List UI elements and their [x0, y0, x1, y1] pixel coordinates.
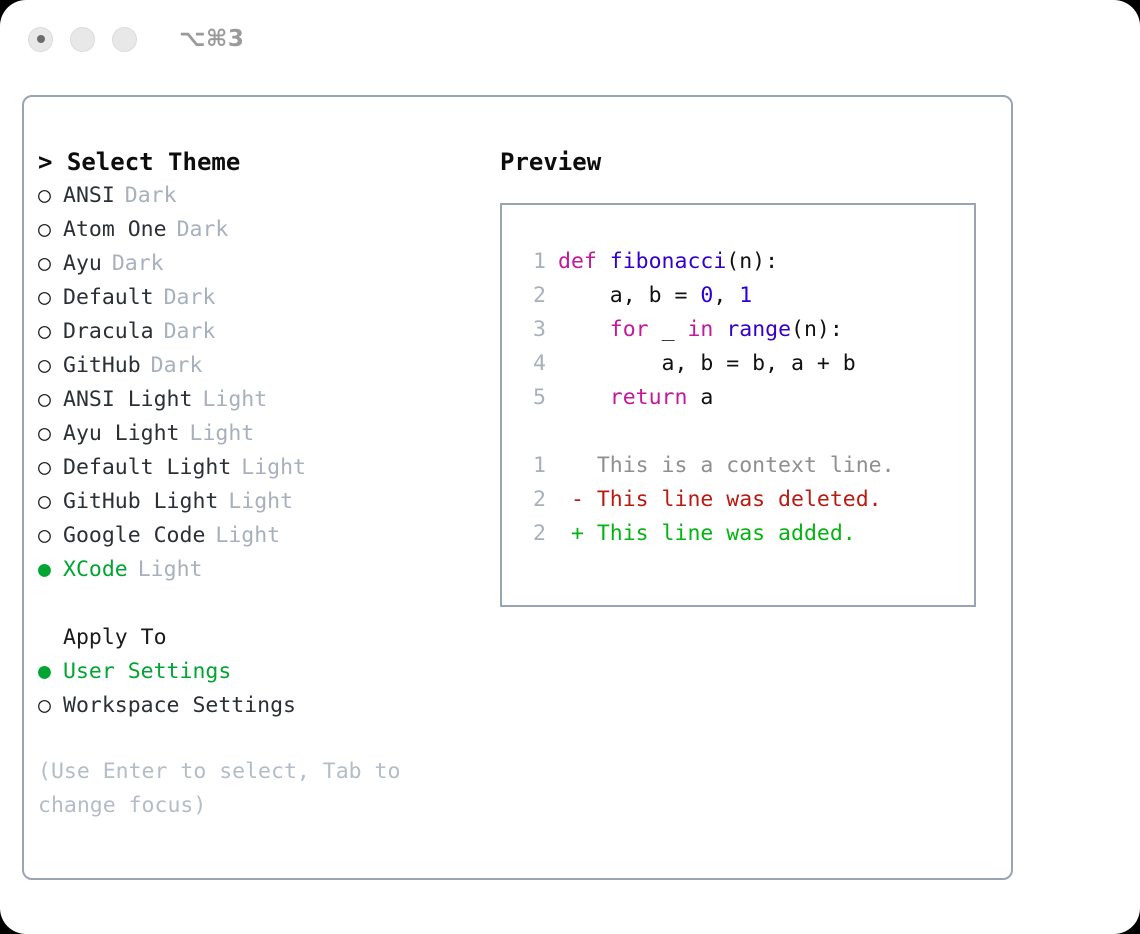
code-token-fn: range: [726, 317, 791, 342]
line-number: 2: [518, 279, 546, 313]
code-token-plain: a, b =: [558, 283, 700, 308]
code-token-kw: in: [687, 317, 713, 342]
theme-variant-label: Dark: [164, 315, 216, 349]
preview-column: Preview 1def fibonacci(n):2 a, b = 0, 13…: [500, 145, 1000, 607]
line-number: 1: [518, 245, 546, 279]
code-line-content: a, b = 0, 1: [558, 279, 752, 313]
theme-name-label: ANSI Light: [63, 383, 192, 417]
theme-name-label: Ayu: [63, 247, 102, 281]
code-line: 1 This is a context line.: [518, 449, 895, 483]
code-token-add: + This line was added.: [558, 521, 856, 546]
code-token-plain: [713, 317, 726, 342]
theme-list-item[interactable]: ○Default LightLight: [38, 451, 498, 485]
radio-unselected-icon[interactable]: ○: [38, 383, 63, 417]
theme-name-label: ANSI: [63, 179, 115, 213]
window-control-dot-3[interactable]: [112, 27, 137, 52]
line-number: 5: [518, 381, 546, 415]
preview-heading: Preview: [500, 145, 1000, 179]
theme-variant-label: Dark: [125, 179, 177, 213]
code-token-num: 1: [739, 283, 752, 308]
keyboard-shortcut-label: ⌥⌘3: [179, 26, 244, 52]
theme-name-label: Default: [63, 281, 154, 315]
theme-list-item[interactable]: ○AyuDark: [38, 247, 498, 281]
theme-list-item[interactable]: ○DefaultDark: [38, 281, 498, 315]
section-spacer: [38, 587, 498, 621]
code-line-content: return a: [558, 381, 713, 415]
radio-unselected-icon[interactable]: ○: [38, 281, 63, 315]
code-token-del: - This line was deleted.: [558, 487, 882, 512]
code-line: [518, 415, 895, 449]
radio-selected-icon[interactable]: ●: [38, 655, 63, 689]
theme-list: ○ANSIDark○Atom OneDark○AyuDark○DefaultDa…: [38, 179, 498, 587]
theme-selection-column: > Select Theme ○ANSIDark○Atom OneDark○Ay…: [38, 145, 498, 823]
radio-unselected-icon[interactable]: ○: [38, 451, 63, 485]
line-number: 3: [518, 313, 546, 347]
main-panel: > Select Theme ○ANSIDark○Atom OneDark○Ay…: [22, 95, 1013, 880]
select-theme-heading: > Select Theme: [38, 145, 498, 179]
theme-variant-label: Light: [190, 417, 255, 451]
theme-name-label: GitHub Light: [63, 485, 218, 519]
app-window: ⌥⌘3 > Select Theme ○ANSIDark○Atom OneDar…: [0, 0, 1140, 934]
theme-name-label: XCode: [63, 553, 128, 587]
theme-name-label: GitHub: [63, 349, 141, 383]
theme-list-item[interactable]: ●XCodeLight: [38, 553, 498, 587]
radio-unselected-icon[interactable]: ○: [38, 315, 63, 349]
radio-unselected-icon[interactable]: ○: [38, 349, 63, 383]
title-bar: ⌥⌘3: [0, 0, 1140, 78]
panel-columns: > Select Theme ○ANSIDark○Atom OneDark○Ay…: [24, 97, 1011, 878]
code-token-plain: a: [687, 385, 713, 410]
line-number: 2: [518, 483, 546, 517]
radio-unselected-icon[interactable]: ○: [38, 179, 63, 213]
theme-list-item[interactable]: ○Atom OneDark: [38, 213, 498, 247]
theme-name-label: Ayu Light: [63, 417, 180, 451]
code-line: 2 a, b = 0, 1: [518, 279, 895, 313]
theme-variant-label: Light: [241, 451, 306, 485]
code-token-plain: [558, 317, 610, 342]
code-line-content: + This line was added.: [558, 517, 856, 551]
line-number: 1: [518, 449, 546, 483]
window-control-dot-active[interactable]: [28, 27, 53, 52]
code-token-punc: (n):: [791, 317, 843, 342]
apply-to-heading: Apply To: [38, 621, 498, 655]
theme-variant-label: Light: [138, 553, 203, 587]
code-line: 2 - This line was deleted.: [518, 483, 895, 517]
theme-variant-label: Dark: [151, 349, 203, 383]
code-preview: 1def fibonacci(n):2 a, b = 0, 13 for _ i…: [518, 245, 895, 551]
code-line: 3 for _ in range(n):: [518, 313, 895, 347]
code-token-num: 0: [700, 283, 713, 308]
window-control-dot-2[interactable]: [70, 27, 95, 52]
theme-name-label: Google Code: [63, 519, 205, 553]
radio-unselected-icon[interactable]: ○: [38, 689, 63, 723]
apply-to-label: User Settings: [63, 655, 231, 689]
theme-name-label: Dracula: [63, 315, 154, 349]
theme-list-item[interactable]: ○GitHubDark: [38, 349, 498, 383]
theme-variant-label: Light: [202, 383, 267, 417]
code-token-plain: a, b = b, a + b: [558, 351, 856, 376]
radio-selected-icon[interactable]: ●: [38, 553, 63, 587]
apply-to-option[interactable]: ●User Settings: [38, 655, 498, 689]
code-line: 4 a, b = b, a + b: [518, 347, 895, 381]
theme-variant-label: Dark: [177, 213, 229, 247]
line-number: [518, 415, 546, 449]
theme-variant-label: Dark: [112, 247, 164, 281]
code-token-punc: (n):: [726, 249, 778, 274]
code-token-kw: def: [558, 249, 610, 274]
apply-to-option[interactable]: ○Workspace Settings: [38, 689, 498, 723]
code-line: 2 + This line was added.: [518, 517, 895, 551]
theme-list-item[interactable]: ○DraculaDark: [38, 315, 498, 349]
apply-to-list: ●User Settings○Workspace Settings: [38, 655, 498, 723]
line-number: 4: [518, 347, 546, 381]
theme-name-label: Default Light: [63, 451, 231, 485]
code-token-plain: ,: [713, 283, 739, 308]
theme-list-item[interactable]: ○Ayu LightLight: [38, 417, 498, 451]
theme-name-label: Atom One: [63, 213, 167, 247]
code-line: 1def fibonacci(n):: [518, 245, 895, 279]
window-controls: [28, 27, 137, 52]
theme-variant-label: Dark: [164, 281, 216, 315]
code-token-fn: fibonacci: [610, 249, 727, 274]
radio-unselected-icon[interactable]: ○: [38, 485, 63, 519]
code-token-plain: [558, 385, 610, 410]
code-token-plain: _: [649, 317, 688, 342]
apply-to-label: Workspace Settings: [63, 689, 296, 723]
theme-variant-label: Light: [228, 485, 293, 519]
code-line: 5 return a: [518, 381, 895, 415]
theme-variant-label: Light: [215, 519, 280, 553]
line-number: 2: [518, 517, 546, 551]
radio-unselected-icon[interactable]: ○: [38, 519, 63, 553]
active-indicator-dot: [37, 35, 45, 43]
code-line-content: This is a context line.: [558, 449, 895, 483]
theme-list-item[interactable]: ○GitHub LightLight: [38, 485, 498, 519]
code-token-kw: for: [610, 317, 649, 342]
code-line-content: - This line was deleted.: [558, 483, 882, 517]
theme-list-item[interactable]: ○ANSI LightLight: [38, 383, 498, 417]
preview-box: 1def fibonacci(n):2 a, b = 0, 13 for _ i…: [500, 203, 976, 607]
code-token-kw: return: [610, 385, 688, 410]
radio-unselected-icon[interactable]: ○: [38, 213, 63, 247]
theme-list-item[interactable]: ○ANSIDark: [38, 179, 498, 213]
code-token-ctx: This is a context line.: [558, 453, 895, 478]
code-line-content: def fibonacci(n):: [558, 245, 778, 279]
radio-unselected-icon[interactable]: ○: [38, 417, 63, 451]
keyboard-hint-text: (Use Enter to select, Tab to change focu…: [38, 755, 458, 823]
theme-list-item[interactable]: ○Google CodeLight: [38, 519, 498, 553]
code-line-content: a, b = b, a + b: [558, 347, 856, 381]
radio-unselected-icon[interactable]: ○: [38, 247, 63, 281]
code-line-content: for _ in range(n):: [558, 313, 843, 347]
